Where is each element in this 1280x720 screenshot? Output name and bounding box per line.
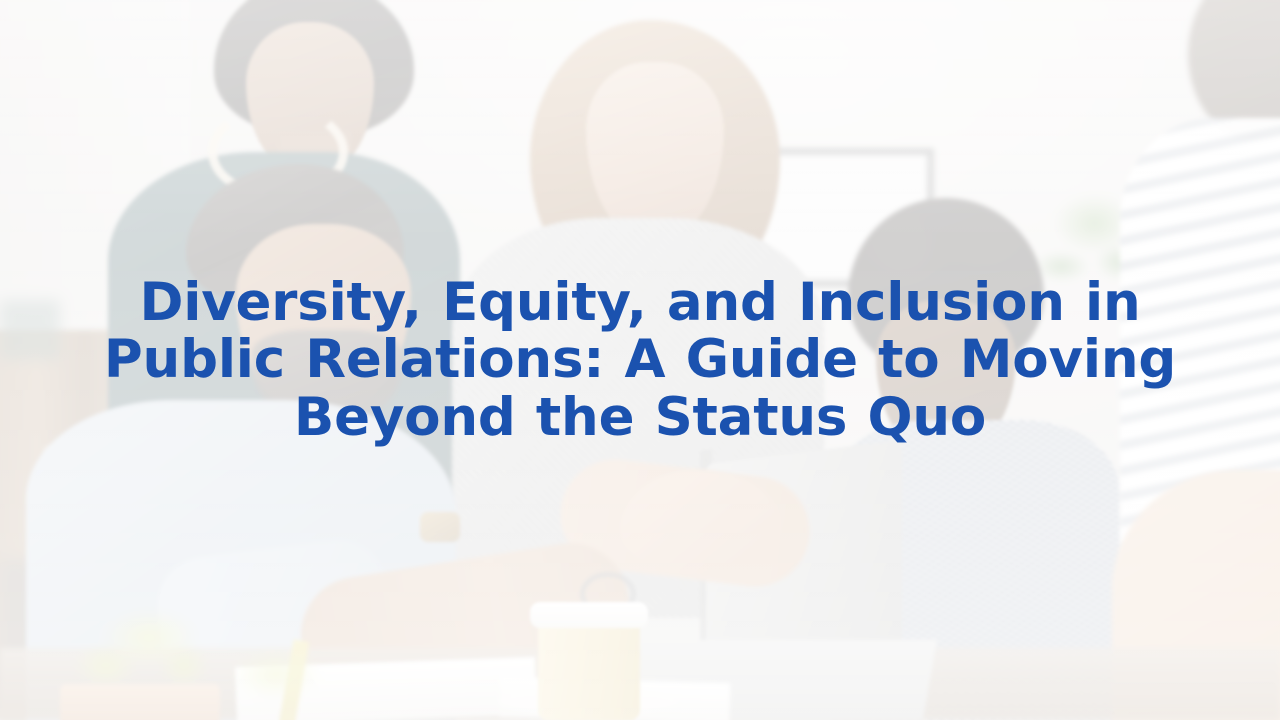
background-photo	[0, 0, 1280, 720]
vignette-gradient-overlay	[0, 0, 1280, 720]
featured-image-banner: Diversity, Equity, and Inclusion in Publ…	[0, 0, 1280, 720]
